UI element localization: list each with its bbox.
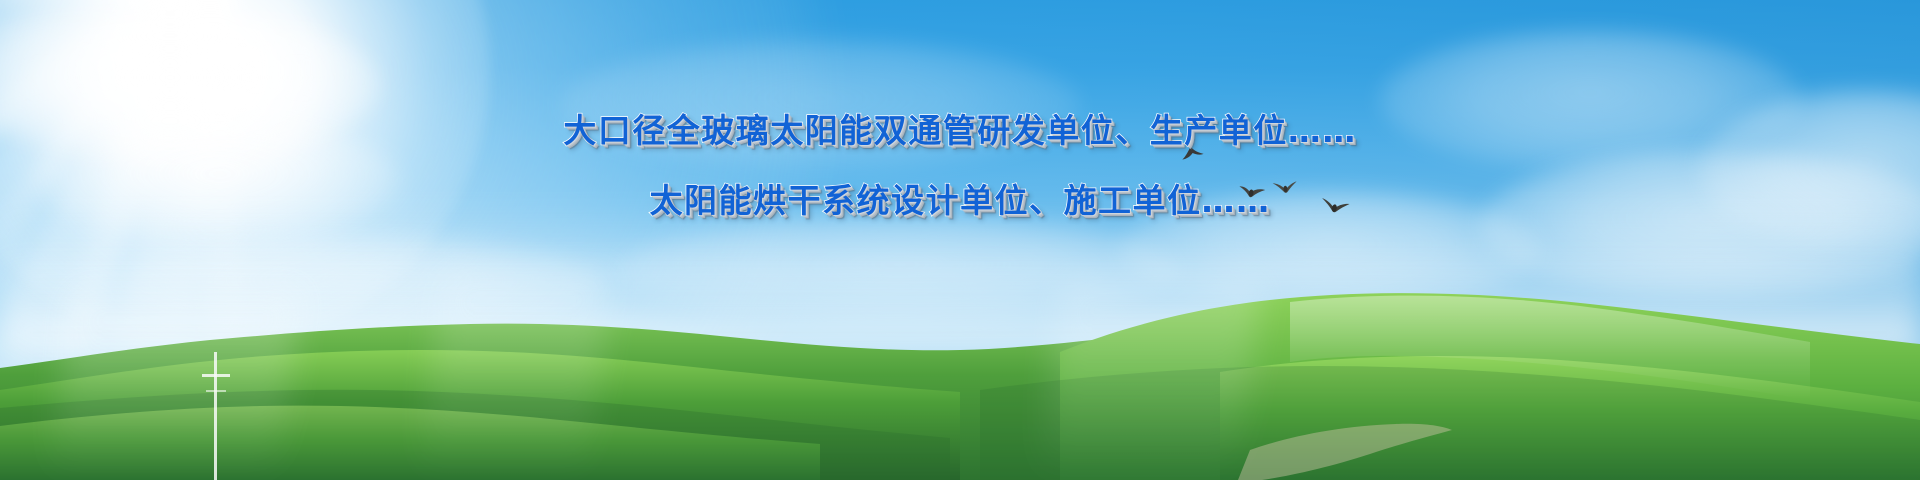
hero-banner: 大口径全玻璃太阳能双通管研发单位、生产单位…… 太阳能烘干系统设计单位、施工单位… [0,0,1920,480]
utility-pole-crossarm-2 [206,390,226,392]
utility-pole [214,352,217,480]
cloud-center-haze [560,40,1080,170]
utility-pole-crossarm-1 [202,374,230,377]
bird-3 [1271,177,1299,196]
green-hills [0,240,1920,480]
bird-2 [1237,180,1267,201]
